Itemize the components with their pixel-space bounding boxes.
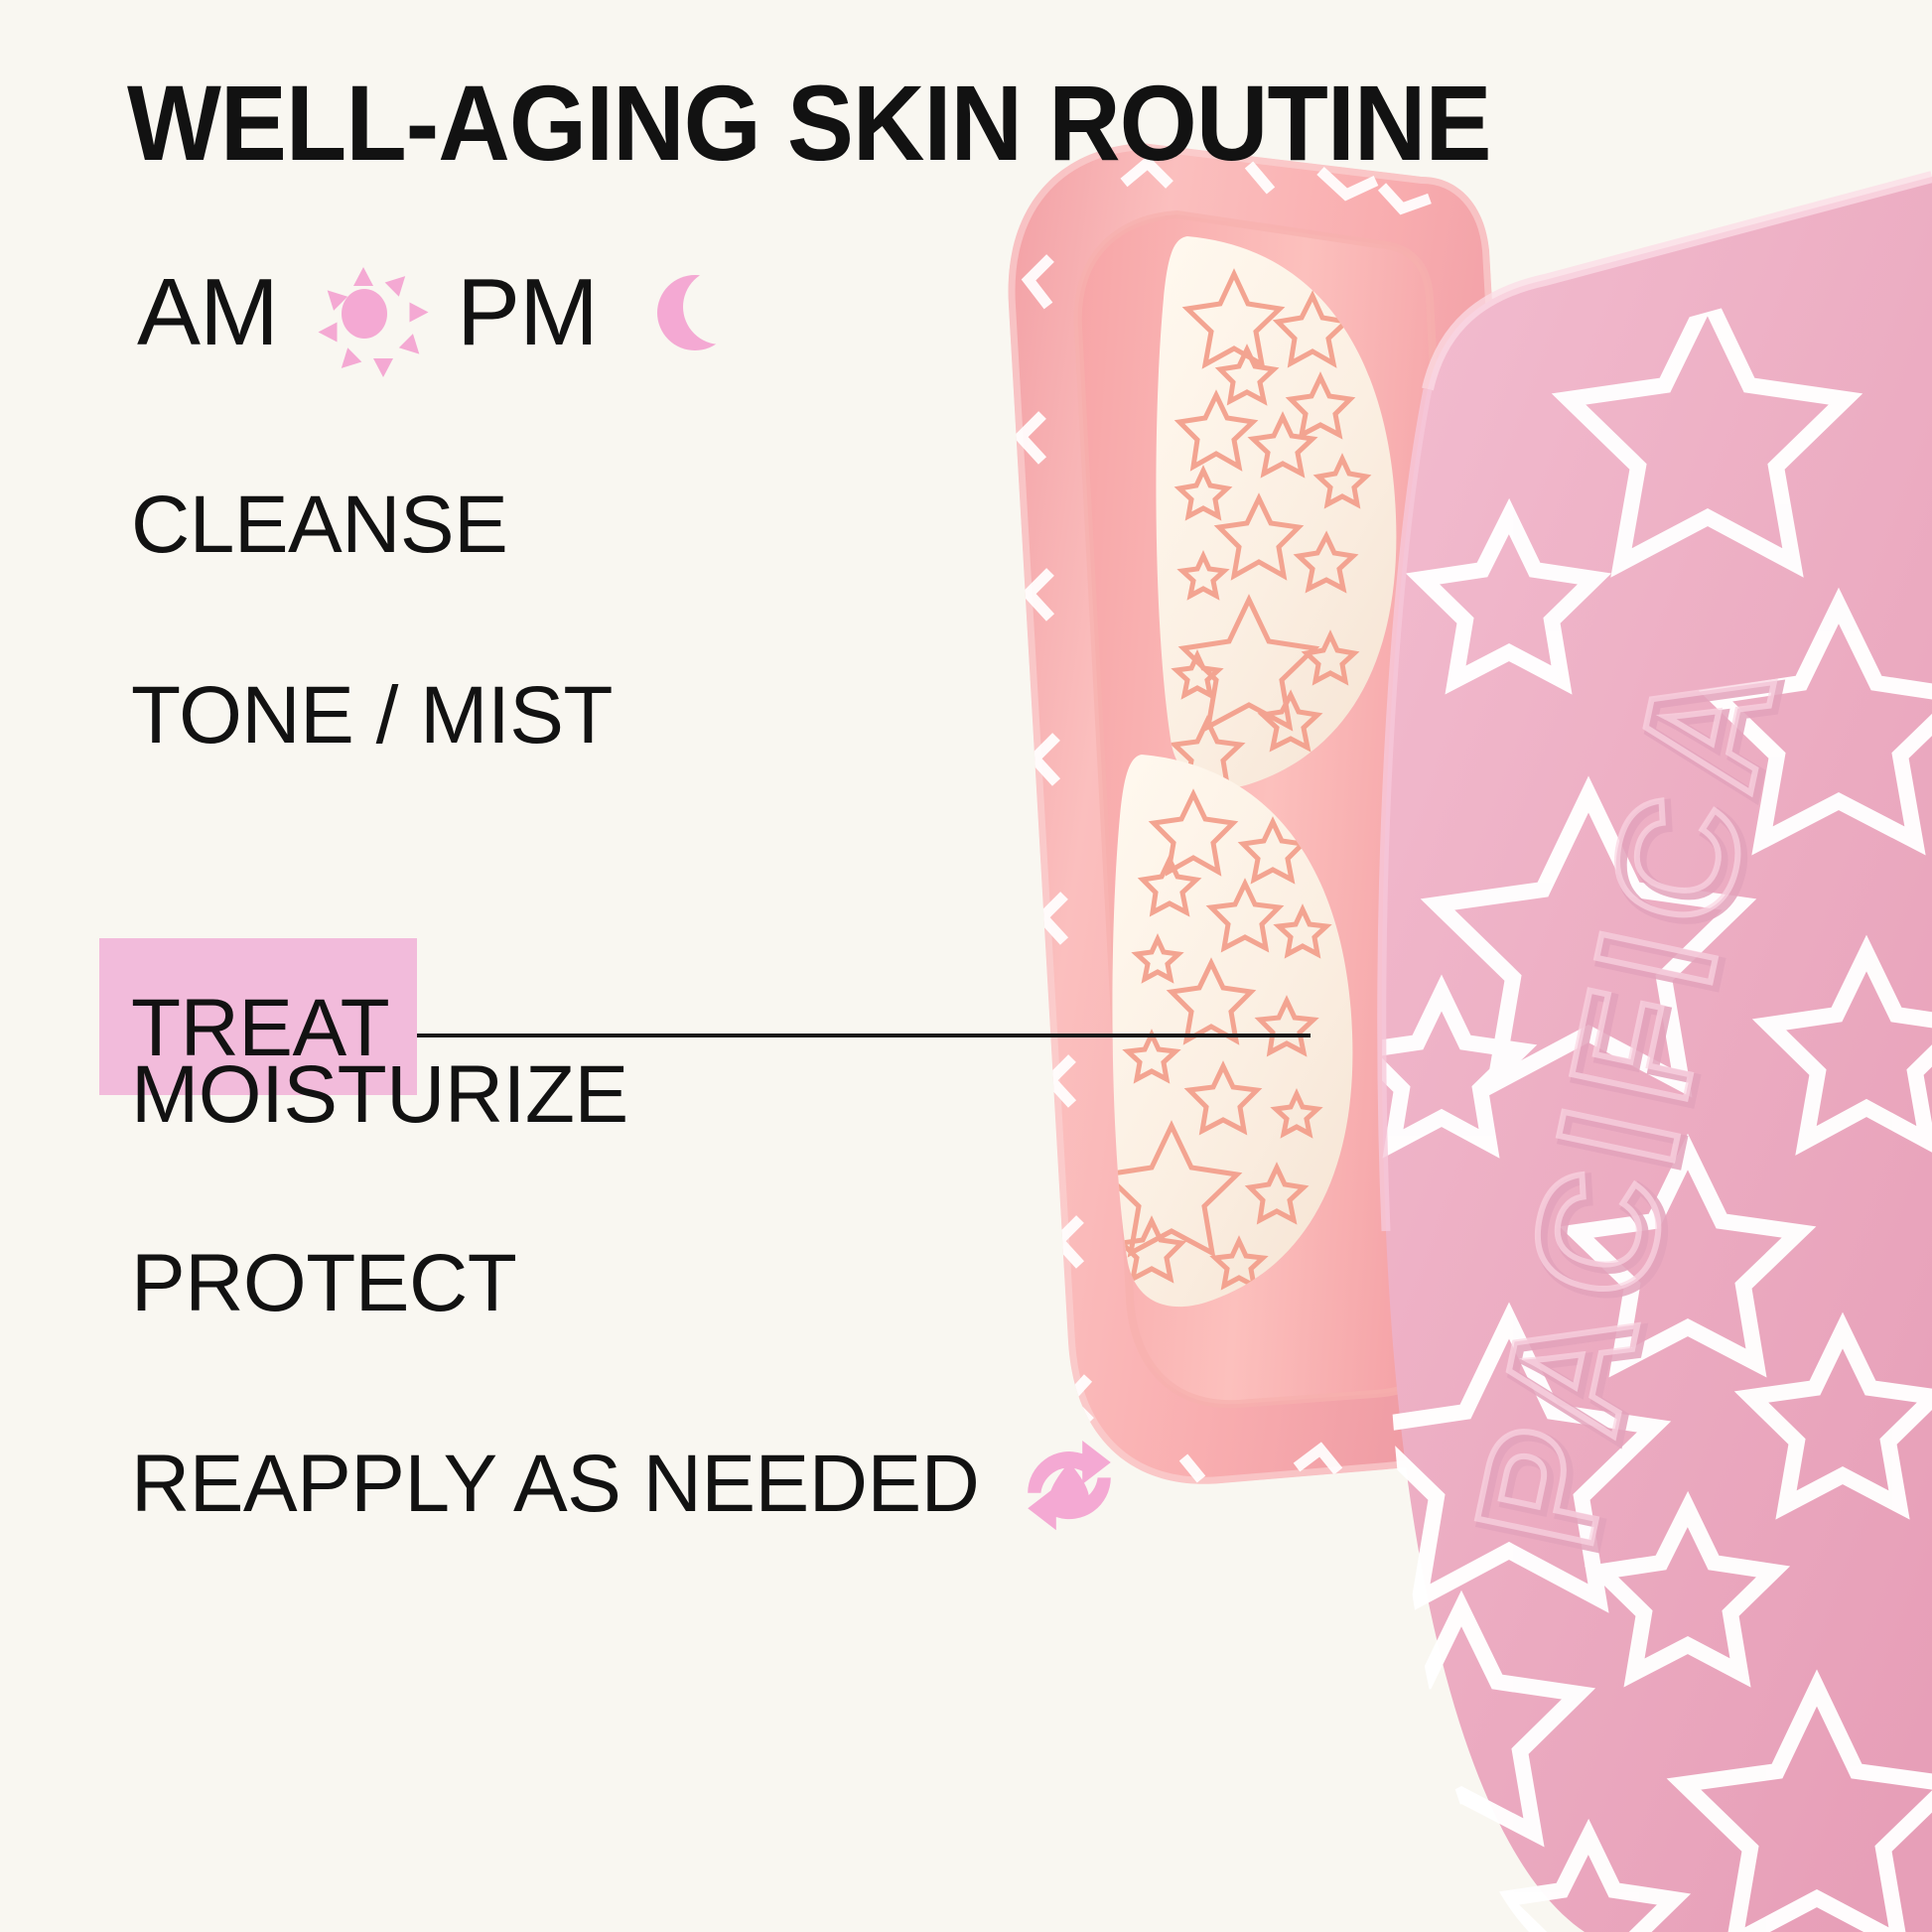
moon-icon bbox=[653, 271, 737, 354]
svg-text:PACIFICA: PACIFICA bbox=[1441, 630, 1815, 1562]
routine-step-reapply[interactable]: REAPPLY AS NEEDED bbox=[131, 1430, 1124, 1539]
routine-step-cleanse[interactable]: CLEANSE bbox=[131, 484, 507, 566]
sun-icon bbox=[318, 267, 409, 358]
eye-patch-case-lid: PACIFICA PACIFICA bbox=[1344, 177, 1932, 1932]
treat-connector-line bbox=[417, 1034, 1311, 1037]
routine-step-label: PROTECT bbox=[131, 1243, 516, 1324]
routine-step-protect[interactable]: PROTECT bbox=[131, 1243, 516, 1324]
routine-step-moisturize[interactable]: MOISTURIZE bbox=[131, 1054, 628, 1136]
svg-text:PACIFICA: PACIFICA bbox=[1445, 634, 1819, 1566]
routine-step-tone-mist[interactable]: TONE / MIST bbox=[131, 675, 613, 757]
patch-star-pattern bbox=[1174, 274, 1366, 784]
am-label: AM bbox=[137, 265, 278, 360]
eye-patch-upper bbox=[1156, 236, 1396, 788]
routine-step-label: REAPPLY AS NEEDED bbox=[131, 1444, 979, 1525]
embossed-brand-text: PACIFICA PACIFICA bbox=[1440, 630, 1819, 1566]
routine-infographic: PACIFICA PACIFICA WELL-AGING SKIN ROUTIN… bbox=[0, 0, 1932, 1932]
routine-step-label: CLEANSE bbox=[131, 484, 507, 566]
eye-patch-case-body bbox=[1009, 143, 1550, 1484]
patch-star-pattern-lower bbox=[1106, 794, 1326, 1286]
eye-patch-lower bbox=[1106, 755, 1352, 1307]
time-of-day-row: AM PM bbox=[137, 253, 737, 372]
lid-star-print bbox=[1344, 298, 1932, 1932]
page-title: WELL-AGING SKIN ROUTINE bbox=[127, 69, 1491, 177]
routine-step-label: MOISTURIZE bbox=[131, 1054, 628, 1136]
refresh-droplet-icon bbox=[1015, 1430, 1124, 1539]
routine-step-label: TONE / MIST bbox=[131, 675, 613, 757]
pm-label: PM bbox=[457, 265, 598, 360]
case-star-print bbox=[1021, 163, 1539, 1479]
